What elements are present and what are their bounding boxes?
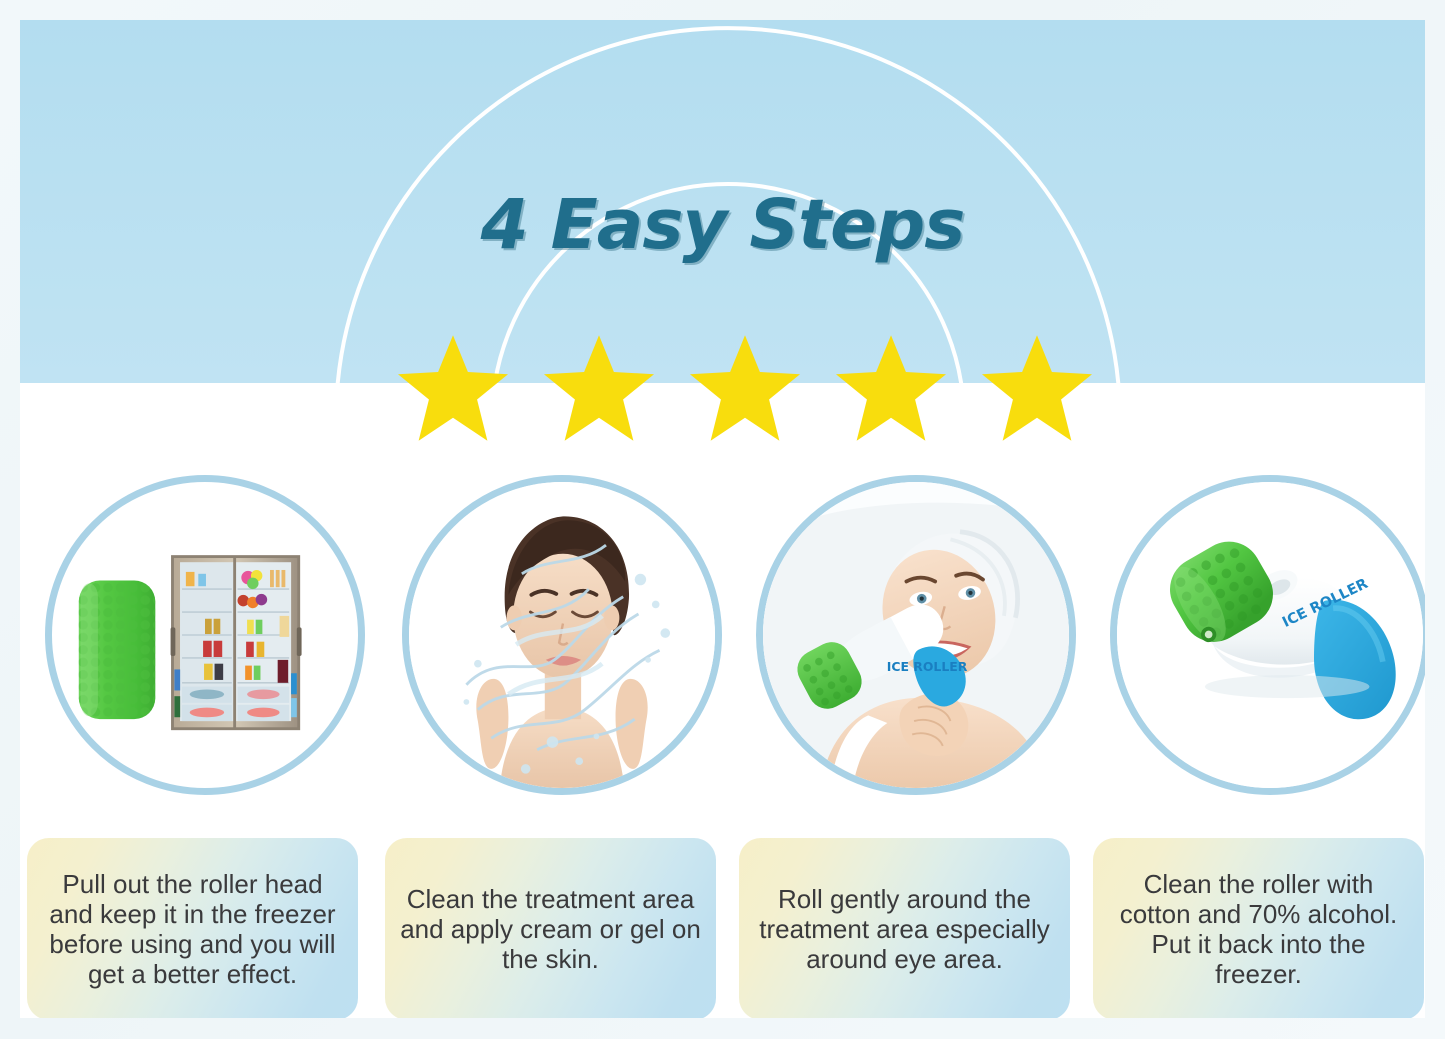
star-icon [395,333,511,443]
step-1-caption: Pull out the roller head and keep it in … [27,838,358,1018]
hero-banner: 4 Easy Steps [20,20,1425,383]
step-3-image-circle: ICE ROLLER [756,475,1076,795]
star-icon [687,333,803,443]
star-icon [979,333,1095,443]
roller-head-and-refrigerator-illustration [52,482,358,788]
svg-text:ICE ROLLER: ICE ROLLER [887,659,968,674]
poster-card: 4 Easy Steps [20,20,1425,1018]
step-caption-row: Pull out the roller head and keep it in … [20,838,1425,1018]
step-3-caption-text: Roll gently around the treatment area es… [753,884,1056,974]
step-1-image-circle [45,475,365,795]
woman-washing-face-illustration [409,482,715,788]
step-3-caption: Roll gently around the treatment area es… [739,838,1070,1018]
step-2-image-circle [402,475,722,795]
page-title: 4 Easy Steps [20,185,1425,265]
rating-stars [395,333,1095,443]
step-4-caption: Clean the roller with cotton and 70% alc… [1093,838,1424,1018]
star-icon [541,333,657,443]
star-icon [833,333,949,443]
woman-using-ice-roller-illustration: ICE ROLLER [763,482,1069,788]
ice-roller-disassembled-illustration: ICE ROLLER [1117,482,1423,788]
poster-page: 4 Easy Steps [0,0,1445,1039]
step-2-caption-text: Clean the treatment area and apply cream… [399,884,702,974]
step-2-caption: Clean the treatment area and apply cream… [385,838,716,1018]
step-4-image-circle: ICE ROLLER [1110,475,1425,795]
step-4-caption-text: Clean the roller with cotton and 70% alc… [1107,869,1410,990]
step-image-row: ICE ROLLER [20,475,1425,815]
step-1-caption-text: Pull out the roller head and keep it in … [41,869,344,990]
